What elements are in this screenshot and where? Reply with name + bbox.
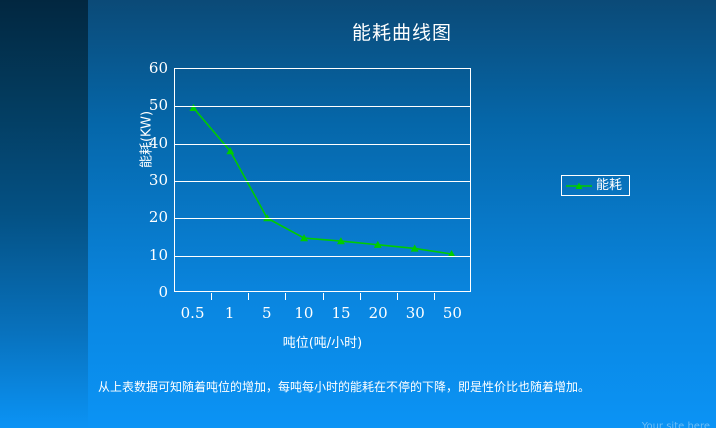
x-axis-tick-mark (285, 293, 286, 300)
slide-caption: 从上表数据可知随着吨位的增加，每吨每小时的能耗在不停的下降，即是性价比也随着增加… (98, 379, 618, 396)
x-axis-tick-label: 50 (443, 304, 462, 322)
x-axis-tick-label: 0.5 (181, 304, 205, 322)
x-axis-tick-label: 1 (225, 304, 235, 322)
grid-line (175, 144, 470, 145)
x-axis-tick-label: 20 (369, 304, 388, 322)
x-axis-tick-mark (397, 293, 398, 300)
y-axis-tick-label: 20 (128, 208, 168, 226)
y-axis-tick-label: 40 (128, 134, 168, 152)
grid-line (175, 106, 470, 107)
x-axis-tick-mark (360, 293, 361, 300)
x-axis-tick-label: 15 (332, 304, 351, 322)
x-axis-tick-mark (248, 293, 249, 300)
x-axis-tick-label: 30 (406, 304, 425, 322)
x-axis-tick-mark (211, 293, 212, 300)
slide-canvas: 能耗曲线图 能耗(KW) 6050403020100 0.51510152030… (0, 0, 716, 428)
y-axis-tick-label: 10 (128, 246, 168, 264)
page-title: 能耗曲线图 (88, 18, 716, 45)
chart-legend: 能耗 (561, 175, 630, 196)
x-axis-tick-label: 10 (294, 304, 313, 322)
energy-consumption-line-chart: 能耗(KW) 6050403020100 0.5151015203050 吨位(… (98, 68, 568, 308)
y-axis-tick-label: 60 (128, 59, 168, 77)
x-axis-tick-marks (174, 293, 471, 300)
x-axis-tick-mark (323, 293, 324, 300)
slide-left-accent-band (0, 0, 88, 428)
grid-line (175, 256, 470, 257)
y-axis-tick-labels: 6050403020100 (128, 68, 168, 292)
x-axis-tick-labels: 0.5151015203050 (174, 304, 471, 326)
legend-item-label: 能耗 (596, 179, 622, 192)
plot-area (174, 68, 471, 292)
y-axis-tick-label: 30 (128, 171, 168, 189)
y-axis-tick-label: 0 (128, 283, 168, 301)
y-axis-tick-label: 50 (128, 96, 168, 114)
grid-line (175, 218, 470, 219)
x-axis-tick-label: 5 (262, 304, 272, 322)
grid-line (175, 181, 470, 182)
x-axis-tick-mark (434, 293, 435, 300)
data-point-marker (189, 104, 197, 111)
watermark-text: Your site here (642, 421, 710, 428)
legend-line-marker-icon (566, 181, 592, 191)
x-axis-title: 吨位(吨/小时) (174, 332, 471, 351)
series-energy-consumption (175, 69, 470, 291)
